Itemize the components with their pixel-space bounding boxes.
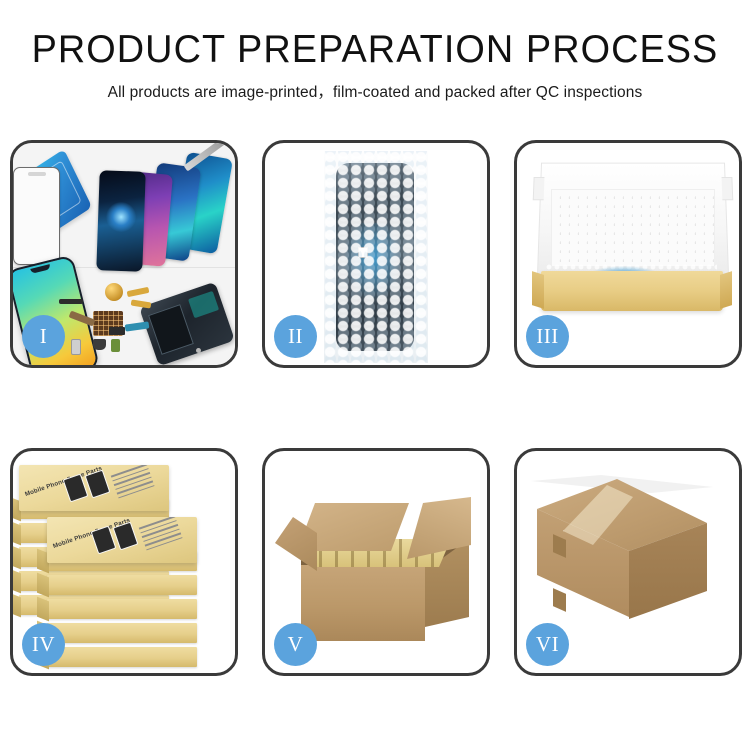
step-badge-1: I — [22, 315, 65, 358]
step-badge-6: VI — [526, 623, 569, 666]
panel-carton-sealed[interactable]: VI — [514, 448, 742, 676]
page-subtitle: All products are image-printed，film-coat… — [0, 80, 750, 102]
page-header: PRODUCT PREPARATION PROCESS All products… — [0, 0, 750, 102]
carton-tab-lower — [553, 588, 566, 612]
glass-screen-protector — [13, 167, 60, 265]
panel-stacked-boxes[interactable]: Mobile Phone Spare Parts Mobile Phone Sp… — [10, 448, 238, 676]
page-title: PRODUCT PREPARATION PROCESS — [11, 30, 739, 71]
bubble-wrap-sleeve — [324, 151, 428, 363]
phone-display-fan — [71, 151, 235, 281]
step-badge-2: II — [274, 315, 317, 358]
process-step-grid: I II III — [10, 140, 742, 676]
bubble-texture-front — [324, 151, 428, 363]
panel-bubble-wrap[interactable]: II — [262, 140, 490, 368]
step-badge-3: III — [526, 315, 569, 358]
panel-carton-filled[interactable]: V — [262, 448, 490, 676]
yellow-box-top-back: Mobile Phone Spare Parts — [19, 465, 169, 511]
carton-front-face — [301, 555, 425, 641]
panel-products[interactable]: I — [10, 140, 238, 368]
step-badge-5: V — [274, 623, 317, 666]
foam-sheet — [551, 189, 715, 267]
kraft-box-tray — [541, 271, 723, 311]
small-parts-group — [65, 295, 197, 357]
panel-inner-box[interactable]: III — [514, 140, 742, 368]
step-badge-4: IV — [22, 623, 65, 666]
yellow-box-top-front: Mobile Phone Spare Parts — [47, 517, 197, 563]
